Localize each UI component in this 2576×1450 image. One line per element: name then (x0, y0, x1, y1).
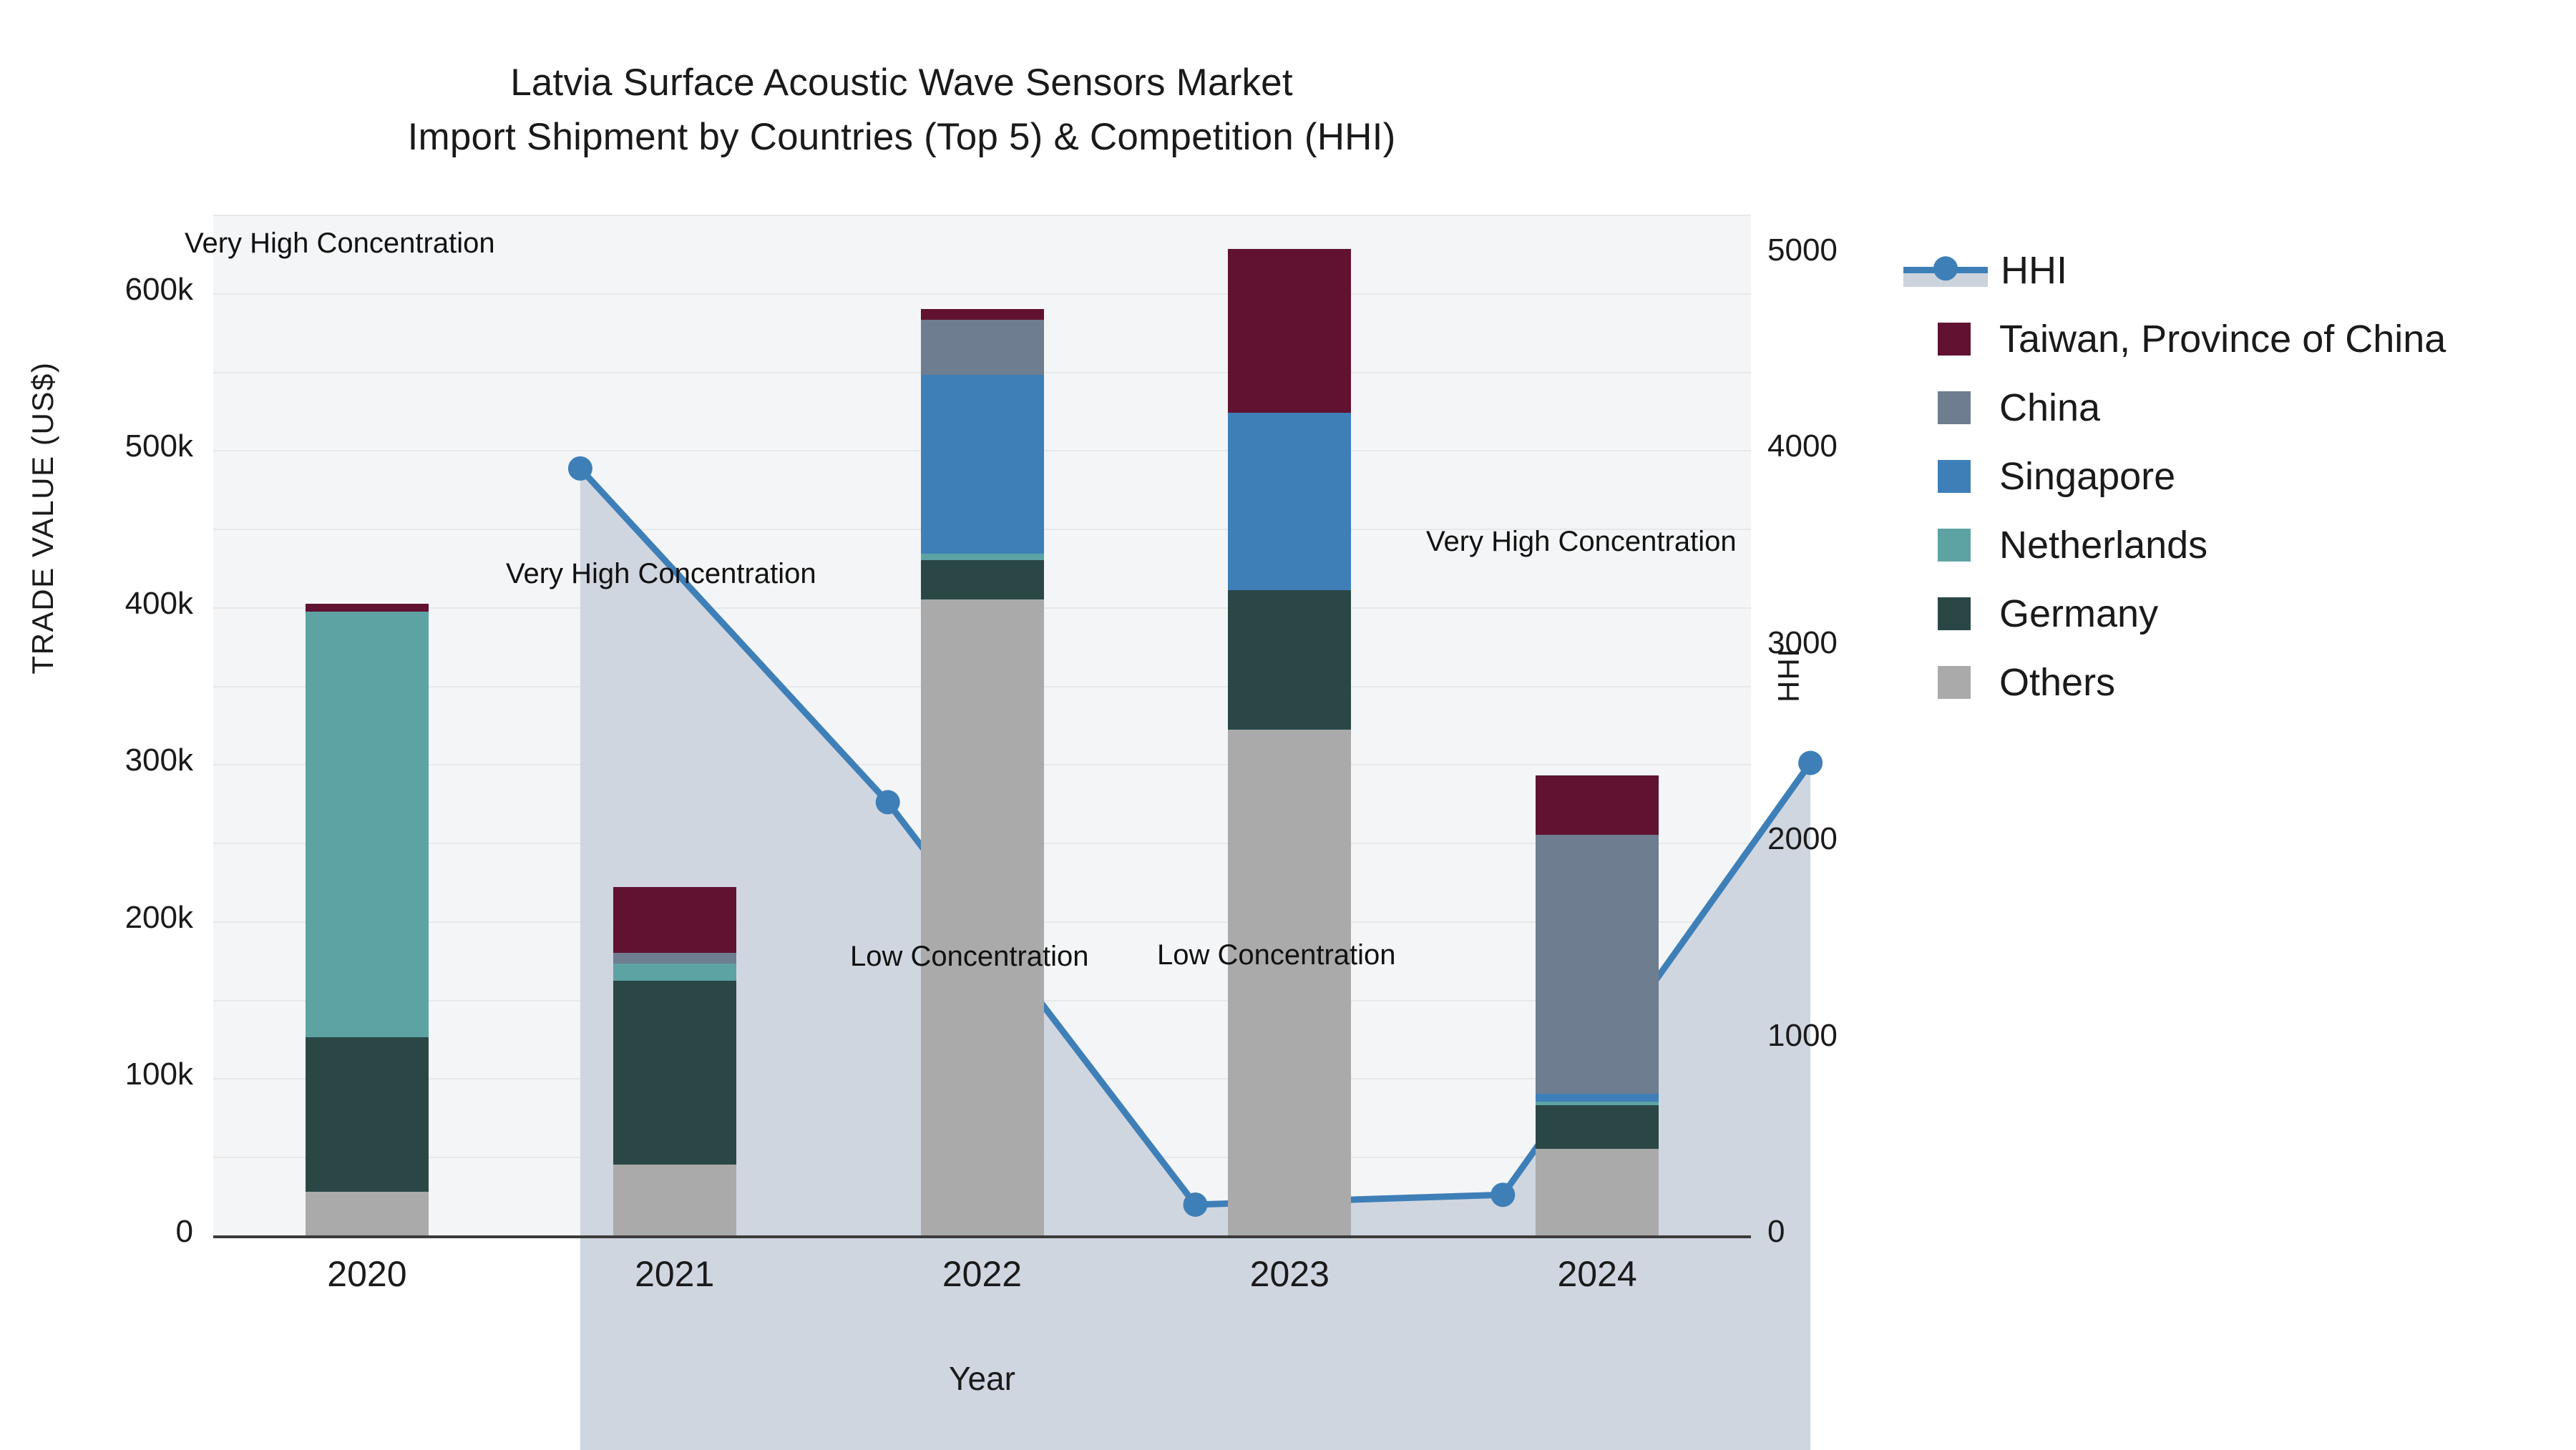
legend-item-label: Germany (1999, 592, 2158, 636)
x-tick-2020: 2020 (274, 1253, 460, 1295)
bar-segment[interactable] (1536, 1149, 1659, 1235)
bar-segment[interactable] (306, 1037, 429, 1191)
bar-segment[interactable] (613, 953, 736, 964)
legend: HHI Taiwan, Province of ChinaChinaSingap… (1903, 236, 2569, 717)
legend-item-netherlands[interactable]: Netherlands (1903, 511, 2569, 579)
y-tick-left: 0 (0, 1214, 193, 1250)
y-tick-right: 1000 (1767, 1018, 1982, 1054)
x-axis-label: Year (213, 1359, 1751, 1398)
bar-segment[interactable] (1536, 1102, 1659, 1104)
bar-segment[interactable] (306, 612, 429, 1037)
legend-color-swatch (1938, 323, 1971, 356)
bar-segment[interactable] (1536, 835, 1659, 1094)
legend-item-hhi[interactable]: HHI (1903, 236, 2569, 305)
x-tick-2024: 2024 (1504, 1253, 1690, 1295)
bar-stack-2024[interactable] (1536, 215, 1659, 1235)
legend-item-germany[interactable]: Germany (1903, 579, 2569, 648)
y-axis-left-label: TRADE VALUE (US$) (26, 232, 60, 804)
legend-item-others[interactable]: Others (1903, 648, 2569, 717)
legend-item-label: Netherlands (1999, 523, 2207, 567)
bar-stack-2023[interactable] (1228, 215, 1351, 1235)
bar-segment[interactable] (613, 964, 736, 981)
bar-segment[interactable] (921, 560, 1044, 599)
legend-item-label: Others (1999, 660, 2115, 705)
chart-title-line-2: Import Shipment by Countries (Top 5) & C… (0, 110, 1803, 165)
legend-color-swatch (1938, 529, 1971, 562)
bar-segment[interactable] (1228, 590, 1351, 730)
y-tick-left: 100k (0, 1057, 193, 1092)
legend-color-swatch (1938, 391, 1971, 424)
legend-color-swatch (1938, 666, 1971, 699)
bar-stack-2020[interactable] (306, 215, 429, 1235)
bar-stack-2022[interactable] (921, 215, 1044, 1235)
bar-segment[interactable] (1228, 730, 1351, 1235)
bar-segment[interactable] (613, 981, 736, 1165)
y-tick-left: 200k (0, 900, 193, 936)
hhi-concentration-annotation: Very High Concentration (1426, 526, 1737, 558)
bar-stack-2021[interactable] (613, 215, 736, 1235)
y-tick-right: 2000 (1767, 821, 1982, 857)
legend-item-label: China (1999, 386, 2100, 430)
bar-segment[interactable] (1536, 1094, 1659, 1102)
legend-item-label: Taiwan, Province of China (1999, 317, 2446, 361)
bar-segment[interactable] (1536, 775, 1659, 835)
hhi-concentration-annotation: Very High Concentration (185, 227, 495, 260)
bar-segment[interactable] (921, 320, 1044, 375)
chart-title: Latvia Surface Acoustic Wave Sensors Mar… (0, 56, 1803, 165)
x-tick-2021: 2021 (582, 1253, 768, 1295)
x-tick-2022: 2022 (889, 1253, 1075, 1295)
bar-segment[interactable] (921, 599, 1044, 1235)
bar-segment[interactable] (1228, 413, 1351, 590)
bar-segment[interactable] (613, 1165, 736, 1235)
chart-title-line-1: Latvia Surface Acoustic Wave Sensors Mar… (0, 56, 1803, 110)
legend-item-taiwan-province-of-china[interactable]: Taiwan, Province of China (1903, 305, 2569, 373)
y-axis-right-label: HHI (1772, 532, 1806, 818)
legend-item-label: HHI (2001, 248, 2067, 293)
y-tick-right: 0 (1767, 1214, 1982, 1250)
x-axis-line (213, 1235, 1751, 1238)
bar-segment[interactable] (306, 604, 429, 612)
hhi-concentration-annotation: Low Concentration (1157, 939, 1396, 971)
bar-segment[interactable] (1228, 249, 1351, 412)
plot-area (213, 215, 1751, 1235)
legend-color-swatch (1938, 460, 1971, 493)
bar-segment[interactable] (921, 554, 1044, 560)
bar-segment[interactable] (613, 887, 736, 953)
bar-segment[interactable] (1536, 1105, 1659, 1149)
bar-segment[interactable] (306, 1192, 429, 1235)
hhi-concentration-annotation: Very High Concentration (506, 558, 816, 590)
legend-color-swatch (1938, 597, 1971, 630)
x-tick-2023: 2023 (1196, 1253, 1382, 1295)
bar-segment[interactable] (921, 375, 1044, 554)
hhi-concentration-annotation: Low Concentration (850, 941, 1089, 973)
bar-segment[interactable] (921, 309, 1044, 320)
legend-item-label: Singapore (1999, 454, 2175, 499)
legend-item-china[interactable]: China (1903, 373, 2569, 442)
legend-item-singapore[interactable]: Singapore (1903, 442, 2569, 511)
hhi-line-icon (1903, 254, 1988, 287)
